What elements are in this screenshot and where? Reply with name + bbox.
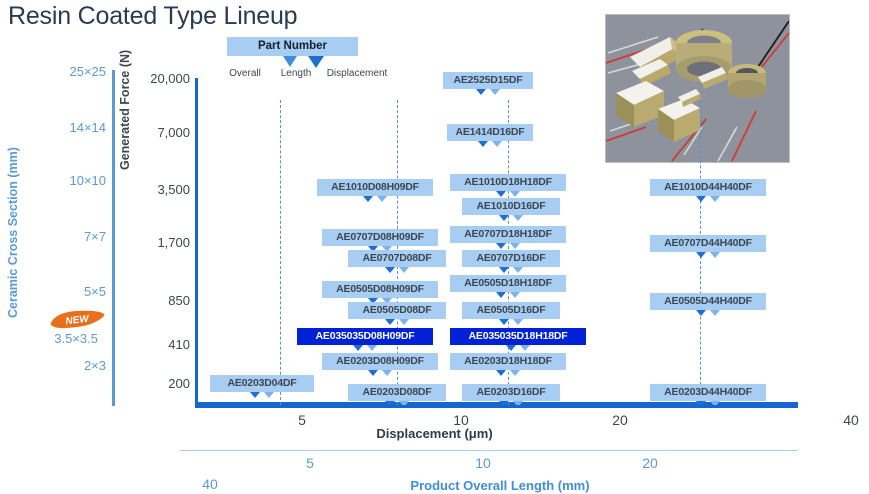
part-number-label[interactable]: AE0203D08DF: [348, 384, 446, 401]
length-marker-icon: [506, 345, 516, 351]
new-badge-icon: NEW: [47, 306, 107, 333]
force-tick-0: 20,000: [128, 71, 190, 86]
length-marker-icon: [385, 319, 395, 325]
part-number-label[interactable]: AE0707D08H09DF: [322, 229, 438, 246]
len-tick-0: 40: [190, 476, 230, 492]
part-number-label[interactable]: AE0505D44H40DF: [650, 293, 766, 310]
part-number-label[interactable]: AE0203D16DF: [462, 384, 560, 401]
part-number-label[interactable]: AE2525D15DF: [443, 72, 533, 89]
length-axis-title: Product Overall Length (mm): [230, 478, 770, 493]
displacement-marker-icon: [367, 345, 377, 351]
displacement-marker-icon: [513, 215, 523, 221]
cross-section-axis-title: Ceramic Cross Section (mm): [6, 147, 20, 318]
length-marker-icon: [499, 319, 509, 325]
svg-text:NEW: NEW: [65, 313, 91, 327]
force-tick-3: 1,700: [128, 235, 190, 250]
force-tick-4: 850: [128, 293, 190, 308]
displacement-marker-icon: [710, 310, 720, 316]
legend-part-number-box: Part Number: [227, 37, 358, 56]
length-marker-icon: [385, 267, 395, 273]
part-number-label[interactable]: AE0203D18H18DF: [450, 353, 566, 370]
displacement-marker-icon: [377, 196, 387, 202]
displacement-marker-icon: [710, 252, 720, 258]
part-number-label[interactable]: AE0707D18H18DF: [450, 226, 566, 243]
displacement-axis-title: Displacement (μm): [0, 426, 869, 441]
page-title: Resin Coated Type Lineup: [8, 2, 297, 31]
length-marker-icon: [368, 370, 378, 376]
length-marker-icon: [478, 141, 488, 147]
force-tick-1: 7,000: [128, 125, 190, 140]
part-number-label[interactable]: AE1010D08H09DF: [317, 179, 433, 196]
force-tick-5: 410: [128, 337, 190, 352]
cs-tick-5: 3.5×3.5: [26, 331, 98, 346]
part-number-label[interactable]: AE0707D44H40DF: [650, 235, 766, 252]
part-number-label[interactable]: AE0505D18H18DF: [450, 275, 566, 292]
displacement-marker-icon: [399, 267, 409, 273]
cs-tick-0: 25×25: [34, 64, 106, 79]
length-axis-separator: [180, 450, 798, 451]
length-marker-icon: [696, 310, 706, 316]
part-number-label[interactable]: AE0707D08DF: [348, 250, 446, 267]
length-marker-icon: [496, 370, 506, 376]
length-marker-icon: [496, 292, 506, 298]
len-tick-3: 20: [630, 455, 670, 471]
part-number-label[interactable]: AE0505D08DF: [348, 302, 446, 319]
length-marker-icon: [363, 196, 373, 202]
part-number-label[interactable]: AE1010D18H18DF: [450, 174, 566, 191]
length-marker-icon: [499, 215, 509, 221]
force-tick-6: 200: [128, 376, 190, 391]
cs-tick-6: 2×3: [34, 358, 106, 373]
displacement-marker-icon: [490, 89, 500, 95]
displacement-marker-icon: [399, 319, 409, 325]
part-number-label[interactable]: AE0707D16DF: [462, 250, 560, 267]
length-marker-icon: [499, 267, 509, 273]
cs-tick-4: 5×5: [34, 284, 106, 299]
displacement-marker-icon: [513, 267, 523, 273]
displacement-marker-icon: [492, 141, 502, 147]
displacement-marker-icon: [510, 292, 520, 298]
part-number-label[interactable]: AE0505D16DF: [462, 302, 560, 319]
cs-tick-1: 14×14: [34, 120, 106, 135]
displacement-marker-icon: [264, 392, 274, 398]
length-marker-icon: [353, 345, 363, 351]
part-number-label[interactable]: AE035035D08H09DF: [297, 328, 433, 345]
length-marker-icon: [476, 89, 486, 95]
len-tick-1: 5: [290, 455, 330, 471]
part-number-label[interactable]: AE1010D44H40DF: [650, 179, 766, 196]
guide-line-0: [280, 100, 281, 405]
cross-section-axis-line: [112, 70, 115, 406]
part-number-label[interactable]: AE0203D04DF: [210, 375, 314, 392]
cs-tick-2: 10×10: [34, 173, 106, 188]
displacement-marker-icon: [510, 370, 520, 376]
displacement-marker-icon: [710, 196, 720, 202]
displacement-marker-icon: [510, 243, 520, 249]
displacement-marker-icon: [520, 345, 530, 351]
part-number-label[interactable]: AE0203D44H40DF: [650, 384, 766, 401]
cs-tick-3: 7×7: [34, 229, 106, 244]
displacement-marker-icon: [510, 191, 520, 197]
new-badge: NEW: [47, 306, 107, 333]
part-number-label[interactable]: AE1010D16DF: [462, 198, 560, 215]
length-marker-icon: [250, 392, 260, 398]
displacement-marker-icon: [513, 319, 523, 325]
displacement-marker-icon: [382, 370, 392, 376]
length-marker-icon: [496, 243, 506, 249]
length-marker-icon: [696, 252, 706, 258]
length-marker-icon: [496, 191, 506, 197]
part-number-label[interactable]: AE1414D16DF: [447, 124, 533, 141]
force-axis-title: Generated Force (N): [118, 50, 132, 170]
length-marker-icon: [696, 196, 706, 202]
displacement-axis-line: [195, 405, 798, 408]
len-tick-2: 10: [463, 455, 503, 471]
lineup-chart-page: Resin Coated Type Lineup: [0, 0, 869, 494]
part-number-label[interactable]: AE0505D08H09DF: [322, 281, 438, 298]
force-tick-2: 3,500: [128, 182, 190, 197]
part-number-label[interactable]: AE0203D08H09DF: [322, 353, 438, 370]
part-number-label[interactable]: AE035035D18H18DF: [450, 328, 586, 345]
